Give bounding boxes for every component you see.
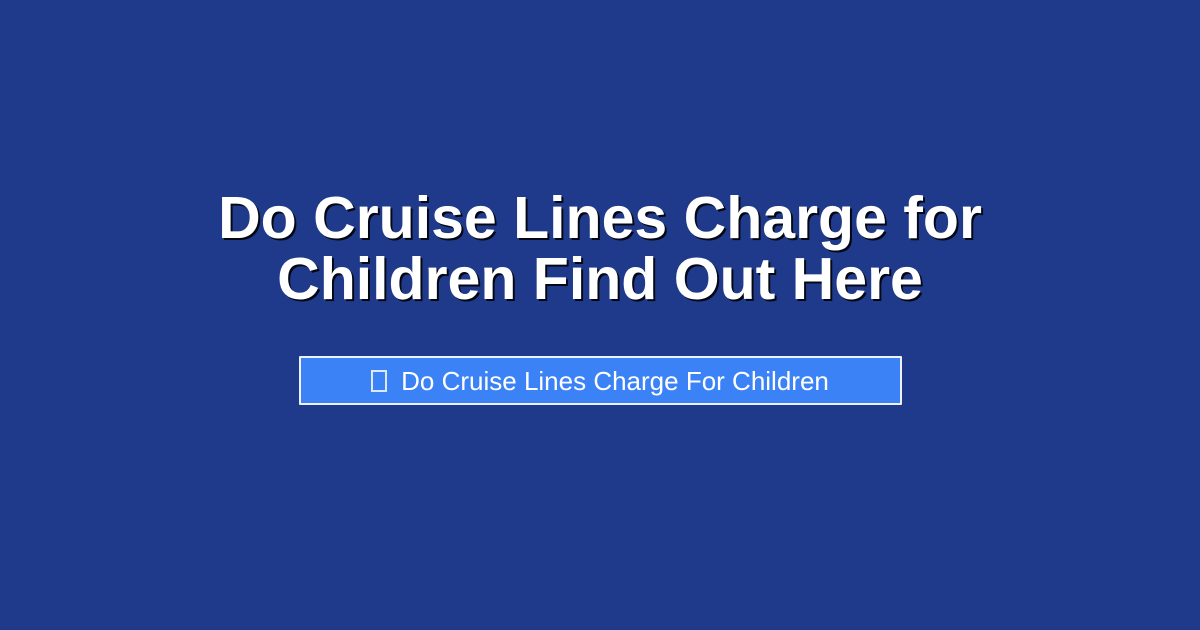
missing-glyph-tofu-icon [371, 370, 387, 392]
page-title: Do Cruise Lines Charge for Children Find… [110, 188, 1090, 310]
social-share-card: Do Cruise Lines Charge for Children Find… [0, 0, 1200, 630]
cta-badge-label: Do Cruise Lines Charge For Children [401, 368, 829, 394]
badge-row: Do Cruise Lines Charge For Children [0, 356, 1200, 405]
cta-badge-button[interactable]: Do Cruise Lines Charge For Children [299, 356, 902, 405]
hero-section: Do Cruise Lines Charge for Children Find… [0, 0, 1200, 630]
